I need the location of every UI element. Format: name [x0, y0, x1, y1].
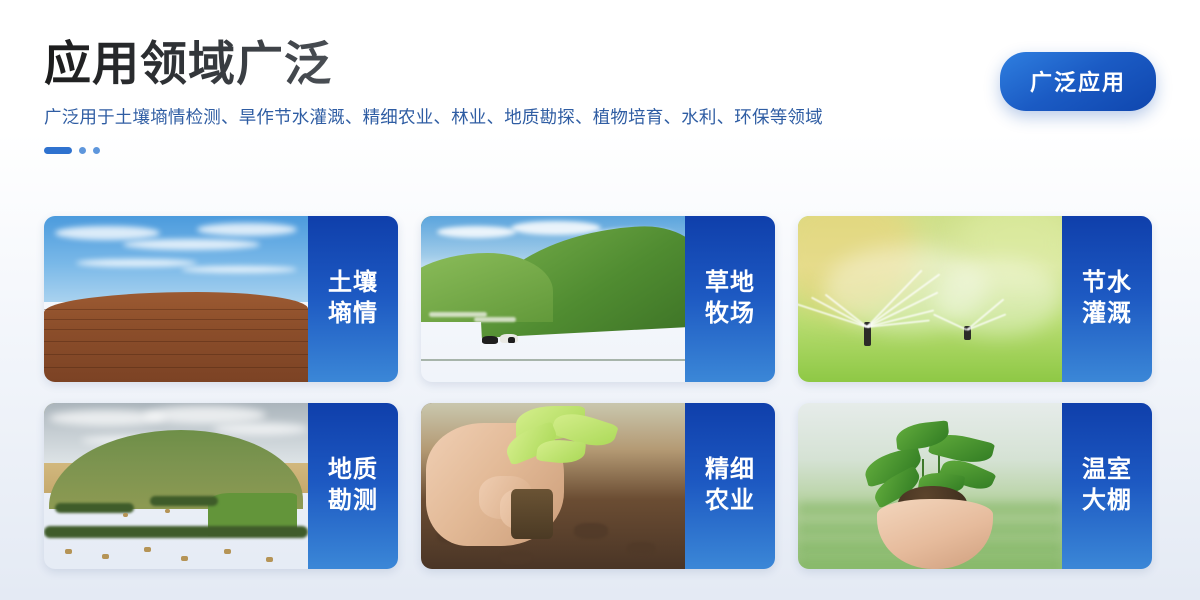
page-title: 应用领域广泛 — [44, 38, 332, 91]
card-label-line2: 大棚 — [1082, 486, 1132, 517]
application-card-grid: 土壤 墒情 草地 牧场 — [44, 216, 1150, 569]
application-card-soil-moisture[interactable]: 土壤 墒情 — [44, 216, 398, 382]
page-header: 应用领域广泛 广泛用于土壤墒情检测、旱作节水灌溉、精细农业、林业、地质勘探、植物… — [44, 38, 1156, 154]
card-label-line1: 精细 — [705, 455, 755, 486]
card-label-soil-moisture: 土壤 墒情 — [308, 216, 398, 382]
card-label-line2: 墒情 — [328, 299, 378, 330]
card-label-water-saving-irrigation: 节水 灌溉 — [1062, 216, 1152, 382]
carousel-indicator-3[interactable] — [93, 147, 100, 154]
card-label-line1: 温室 — [1082, 455, 1132, 486]
carousel-indicator-2[interactable] — [79, 147, 86, 154]
application-card-grassland-pasture[interactable]: 草地 牧场 — [421, 216, 775, 382]
application-card-geological-survey[interactable]: 地质 勘测 — [44, 403, 398, 569]
card-label-line2: 灌溉 — [1082, 299, 1132, 330]
card-photo-sprinkler — [798, 216, 1062, 382]
carousel-indicator-1[interactable] — [44, 147, 72, 154]
card-photo-grassland — [421, 216, 685, 382]
card-photo-hand-planting — [421, 403, 685, 569]
carousel-indicators[interactable] — [44, 147, 1156, 154]
card-photo-tilled-field — [44, 216, 308, 382]
page-subtitle: 广泛用于土壤墒情检测、旱作节水灌溉、精细农业、林业、地质勘探、植物培育、水利、环… — [44, 104, 1156, 129]
card-label-line1: 草地 — [705, 268, 755, 299]
card-label-line1: 节水 — [1082, 268, 1132, 299]
card-label-line2: 勘测 — [328, 486, 378, 517]
card-photo-greenhouse-seedling — [798, 403, 1062, 569]
card-label-greenhouse: 温室 大棚 — [1062, 403, 1152, 569]
card-label-precision-agriculture: 精细 农业 — [685, 403, 775, 569]
card-label-line2: 牧场 — [705, 299, 755, 330]
card-label-line1: 土壤 — [328, 268, 378, 299]
card-label-grassland-pasture: 草地 牧场 — [685, 216, 775, 382]
card-photo-rolling-hills — [44, 403, 308, 569]
status-badge: 广泛应用 — [1000, 52, 1156, 111]
application-card-greenhouse[interactable]: 温室 大棚 — [798, 403, 1152, 569]
card-label-line1: 地质 — [328, 455, 378, 486]
card-label-geological-survey: 地质 勘测 — [308, 403, 398, 569]
application-card-water-saving-irrigation[interactable]: 节水 灌溉 — [798, 216, 1152, 382]
card-label-line2: 农业 — [705, 486, 755, 517]
application-card-precision-agriculture[interactable]: 精细 农业 — [421, 403, 775, 569]
